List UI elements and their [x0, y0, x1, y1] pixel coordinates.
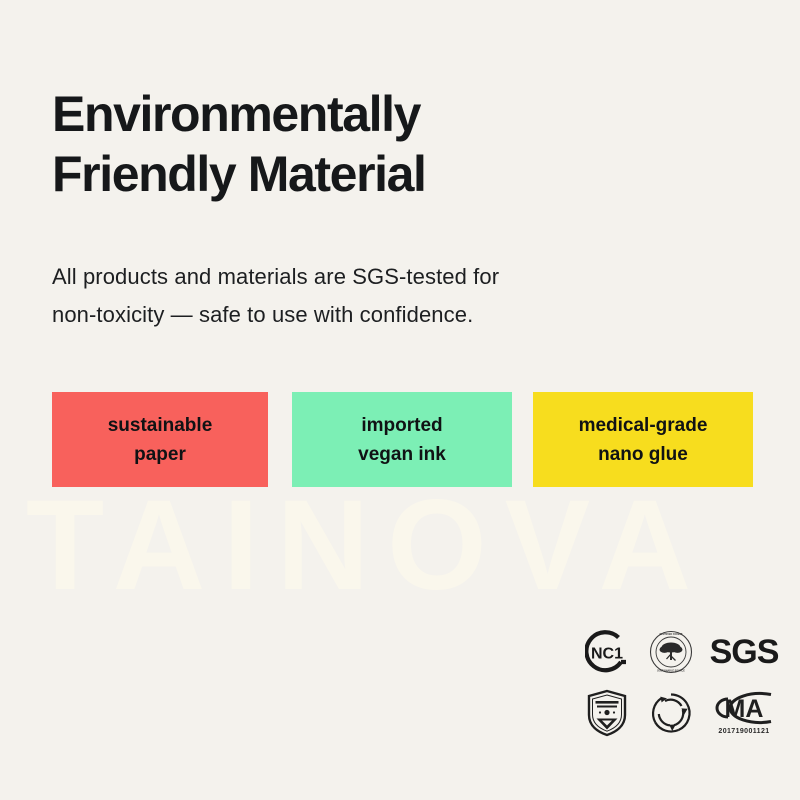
- svg-text:SUSTAINABLE SOURCE: SUSTAINABLE SOURCE: [657, 669, 685, 672]
- material-tag-label-line-1: medical-grade: [579, 411, 708, 440]
- page-description: All products and materials are SGS-teste…: [52, 258, 652, 334]
- svg-text:MA: MA: [725, 695, 764, 723]
- page-description-line-1: All products and materials are SGS-teste…: [52, 258, 652, 296]
- material-tag-row: sustainable paper imported vegan ink med…: [52, 392, 754, 487]
- brand-watermark: TAINOVA: [26, 486, 786, 606]
- material-tag-label-line-1: sustainable: [108, 411, 213, 440]
- cma-certificate-number: 201719001121: [718, 728, 769, 736]
- svg-text:CERTIFIED FOREST: CERTIFIED FOREST: [660, 633, 684, 636]
- page-title-line-1: Environmentally: [52, 84, 692, 144]
- shield-chevron-badge-icon: [586, 689, 628, 737]
- material-tag-sustainable-paper: sustainable paper: [52, 392, 268, 487]
- page-description-line-2: non-toxicity — safe to use with confiden…: [52, 296, 652, 334]
- material-tag-medical-grade-nano-glue: medical-grade nano glue: [533, 392, 753, 487]
- material-tag-label-line-2: paper: [134, 440, 186, 469]
- sgs-wordmark-label: SGS: [710, 635, 779, 669]
- certification-badge-grid: NC1 CERTIFIED FOREST SUSTAINABLE SOURCE: [574, 622, 786, 748]
- sgs-wordmark-icon: SGS: [710, 635, 779, 669]
- forest-tree-seal-icon: CERTIFIED FOREST SUSTAINABLE SOURCE: [648, 629, 694, 675]
- material-tag-imported-vegan-ink: imported vegan ink: [292, 392, 512, 487]
- page-title: Environmentally Friendly Material: [52, 84, 692, 204]
- svg-text:NC1: NC1: [591, 646, 623, 663]
- page-title-line-2: Friendly Material: [52, 144, 692, 204]
- recycling-arrows-icon: [648, 690, 694, 736]
- material-tag-label-line-1: imported: [361, 411, 442, 440]
- cma-oval-badge-icon: MA 201719001121: [709, 690, 779, 736]
- material-tag-label-line-2: nano glue: [598, 440, 688, 469]
- nc1-circle-badge-icon: NC1: [585, 630, 629, 674]
- material-tag-label-line-2: vegan ink: [358, 440, 446, 469]
